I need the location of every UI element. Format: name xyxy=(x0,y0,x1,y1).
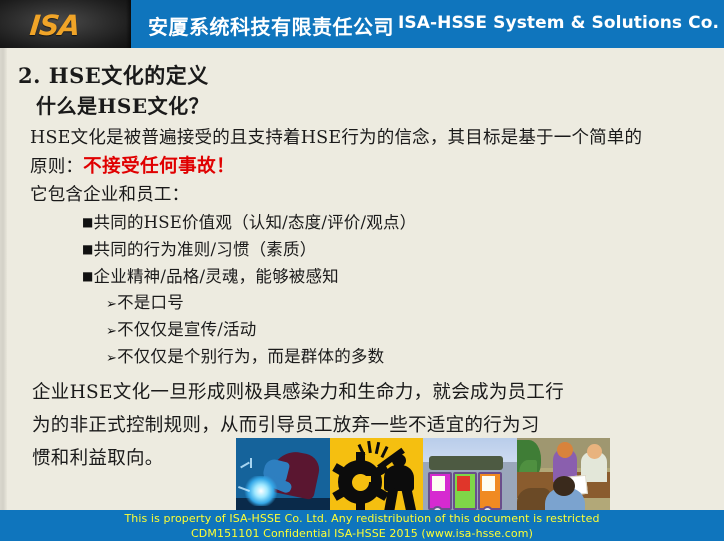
company-name-english: ISA-HSSE System & Solutions Co. LTD xyxy=(398,13,724,33)
paragraph-emphasis: 不接受任何事故！ xyxy=(83,156,235,177)
arrow-bullet-item-1: ➢不是口号 xyxy=(106,289,184,313)
closing-line-3: 惯和利益取向。 xyxy=(32,444,164,470)
person-white-head xyxy=(587,444,602,459)
square-bullet-label: 共同的行为准则/习惯（素质） xyxy=(94,240,317,259)
gear-notch xyxy=(360,476,371,482)
closing-line-1: 企业HSE文化一旦形成则极具感染力和生命力，就会成为员工行 xyxy=(32,378,564,404)
arrow-bullet-label: 不仅仅是个别行为，而是群体的多数 xyxy=(117,347,384,366)
impact-flash xyxy=(367,441,372,453)
slide-header-bar: ISA 安厦系统科技有限责任公司 ISA-HSSE System & Solut… xyxy=(0,0,724,48)
spark-ray xyxy=(240,462,250,469)
isa-logo: ISA xyxy=(28,9,81,42)
square-bullet-icon: ■ xyxy=(82,242,94,256)
square-bullet-item-3: ■企业精神/品格/灵魂，能够被感知 xyxy=(82,263,339,287)
arrow-bullet-label: 不仅仅是宣传/活动 xyxy=(117,320,256,339)
bin-label xyxy=(482,476,495,491)
square-bullet-icon: ■ xyxy=(82,215,94,229)
arrow-bullet-label: 不是口号 xyxy=(117,293,184,312)
bins-trash-pile xyxy=(429,456,503,470)
footer-copyright-line: This is property of ISA-HSSE Co. Ltd. An… xyxy=(0,512,724,525)
impact-flash xyxy=(374,442,379,454)
arrow-bullet-item-3: ➢不仅仅是个别行为，而是群体的多数 xyxy=(106,343,384,367)
meeting-image xyxy=(517,438,611,514)
gear-worker-image xyxy=(330,438,424,514)
person-blue-head xyxy=(553,476,575,496)
image-strip xyxy=(236,438,610,514)
paragraph-line-2: 原则：不接受任何事故！ xyxy=(30,152,235,178)
square-bullet-item-2: ■共同的行为准则/习惯（素质） xyxy=(82,236,316,260)
person-purple-head xyxy=(557,442,573,458)
arrow-right-icon: ➢ xyxy=(106,297,117,312)
paragraph-line-1: HSE文化是被普遍接受的且支持着HSE行为的信念，其目标是基于一个简单的 xyxy=(30,124,642,149)
bin-label xyxy=(432,476,445,491)
footer-confidential-line: CDM151101 Confidential ISA-HSSE 2015 (ww… xyxy=(0,527,724,540)
logo-panel: ISA xyxy=(0,0,131,48)
closing-line-2: 为的非正式控制规则，从而引导员工放弃一些不适宜的行为习 xyxy=(32,411,540,437)
square-bullet-icon: ■ xyxy=(82,269,94,283)
recycling-bins-image xyxy=(423,438,517,514)
paragraph-line-3: 它包含企业和员工： xyxy=(30,181,189,206)
spark-ray xyxy=(250,458,252,468)
square-bullet-item-1: ■共同的HSE价值观（认知/态度/评价/观点） xyxy=(82,209,416,233)
arrow-right-icon: ➢ xyxy=(106,351,117,366)
slide-heading-sub: 什么是HSE文化？ xyxy=(36,90,209,119)
slide-footer-bar: This is property of ISA-HSSE Co. Ltd. An… xyxy=(0,510,724,541)
square-bullet-label: 共同的HSE价值观（认知/态度/评价/观点） xyxy=(94,213,417,232)
arrow-bullet-item-2: ➢不仅仅是宣传/活动 xyxy=(106,316,256,340)
impact-flash xyxy=(380,446,388,458)
bin-label xyxy=(457,476,470,491)
arrow-right-icon: ➢ xyxy=(106,324,117,339)
slide-canvas: ISA 安厦系统科技有限责任公司 ISA-HSSE System & Solut… xyxy=(0,0,724,541)
paragraph-line-2-prefix: 原则： xyxy=(30,157,83,177)
slide-heading-number: 2. HSE文化的定义 xyxy=(18,60,209,90)
square-bullet-label: 企业精神/品格/灵魂，能够被感知 xyxy=(94,267,339,286)
company-name-chinese: 安厦系统科技有限责任公司 xyxy=(148,11,394,40)
welder-image xyxy=(236,438,330,514)
